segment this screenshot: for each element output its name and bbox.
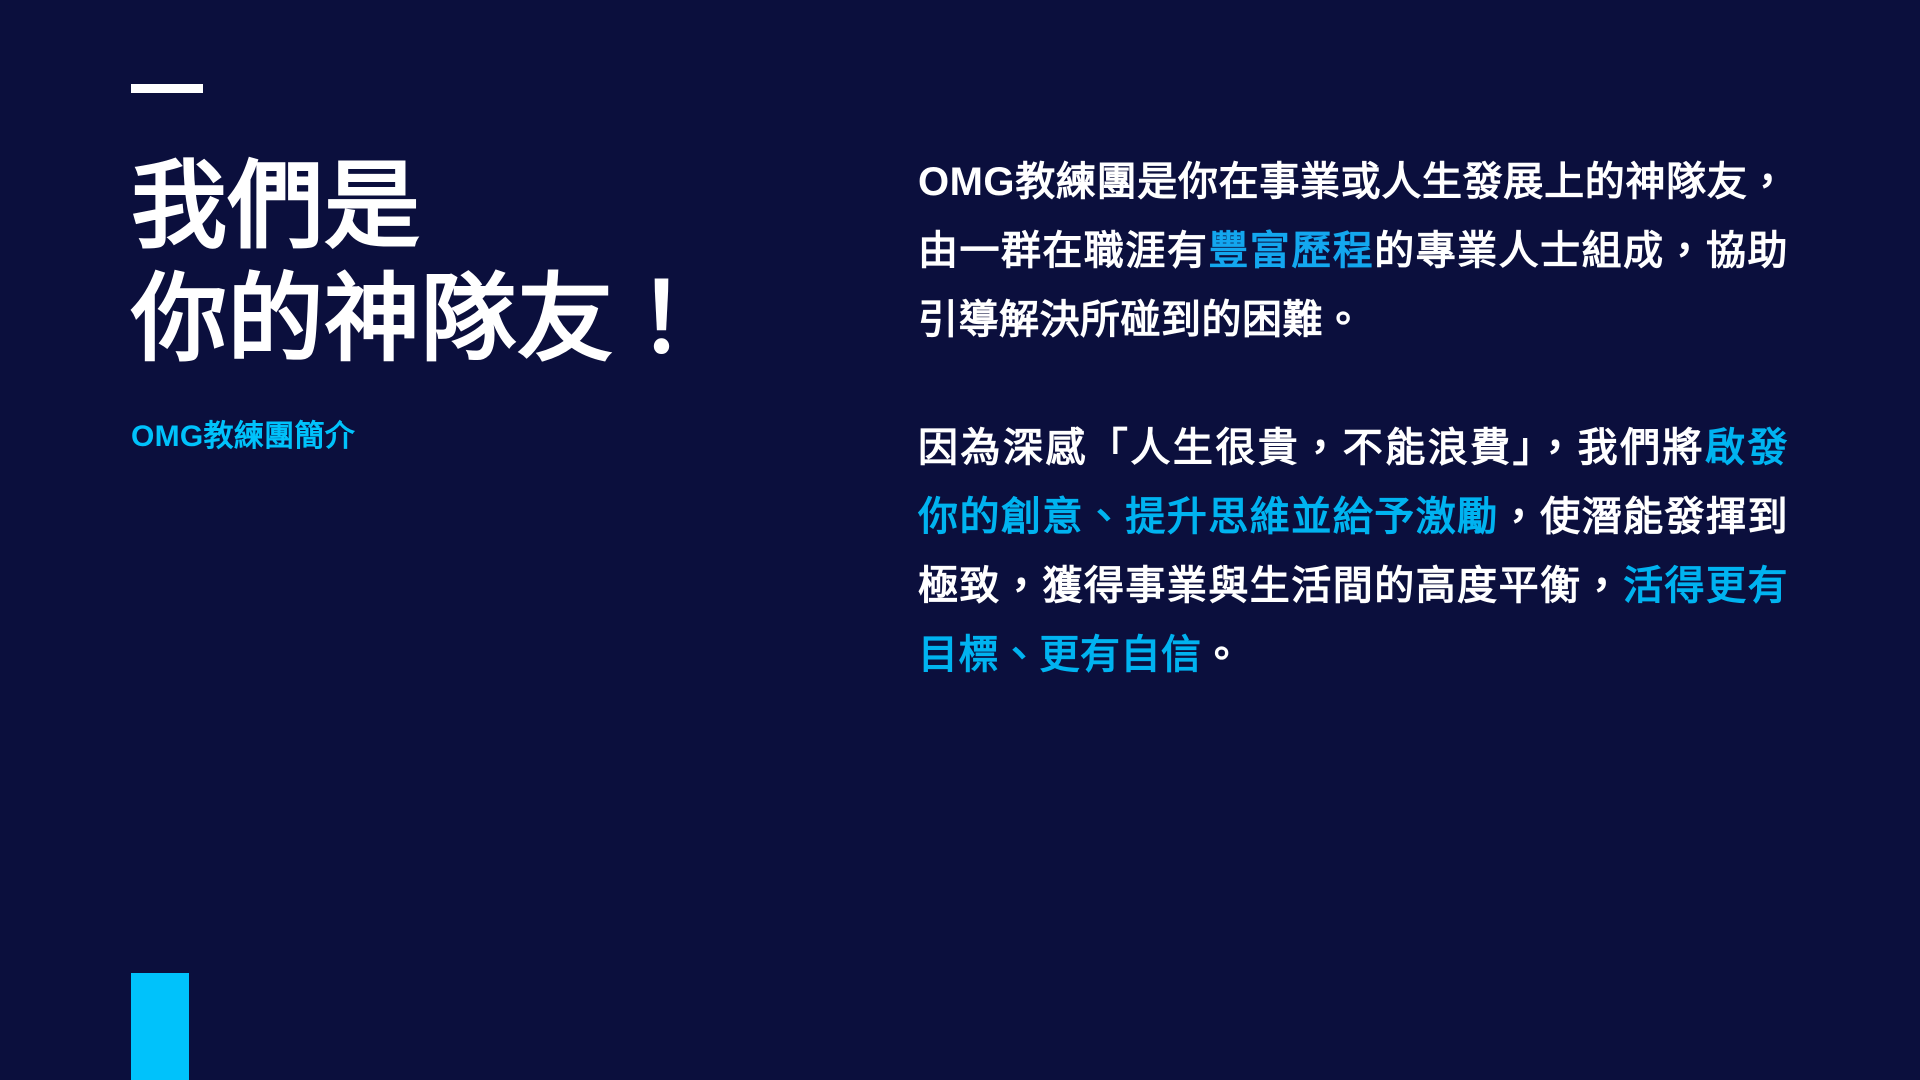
- bottom-left-accent-block: [131, 973, 189, 1080]
- page-title: 我們是 你的神隊友！: [131, 150, 891, 377]
- paragraph-2-segment-plain-c: 。: [1202, 633, 1243, 677]
- page-title-line-2: 你的神隊友！: [131, 263, 891, 376]
- body-paragraph-2: 因為深感「人生很貴，不能浪費」，我們將啟發你的創意、提升思維並給予激勵，使潛能發…: [918, 414, 1788, 689]
- paragraph-2-segment-plain-a: 因為深感「人生很貴，不能浪費」，我們將: [918, 426, 1705, 470]
- page-title-line-1: 我們是: [131, 150, 891, 263]
- page-subtitle: OMG教練團簡介: [131, 377, 891, 455]
- left-column: 我們是 你的神隊友！ OMG教練團簡介: [131, 150, 891, 455]
- body-paragraph-1: OMG教練團是你在事業或人生發展上的神隊友，由一群在職涯有豐富歷程的專業人士組成…: [918, 148, 1788, 354]
- top-dash-rule: [131, 84, 203, 93]
- paragraph-1-segment-accent: 豐富歷程: [1208, 229, 1374, 273]
- right-column: OMG教練團是你在事業或人生發展上的神隊友，由一群在職涯有豐富歷程的專業人士組成…: [918, 148, 1788, 690]
- slide-root: 我們是 你的神隊友！ OMG教練團簡介 OMG教練團是你在事業或人生發展上的神隊…: [0, 0, 1920, 1080]
